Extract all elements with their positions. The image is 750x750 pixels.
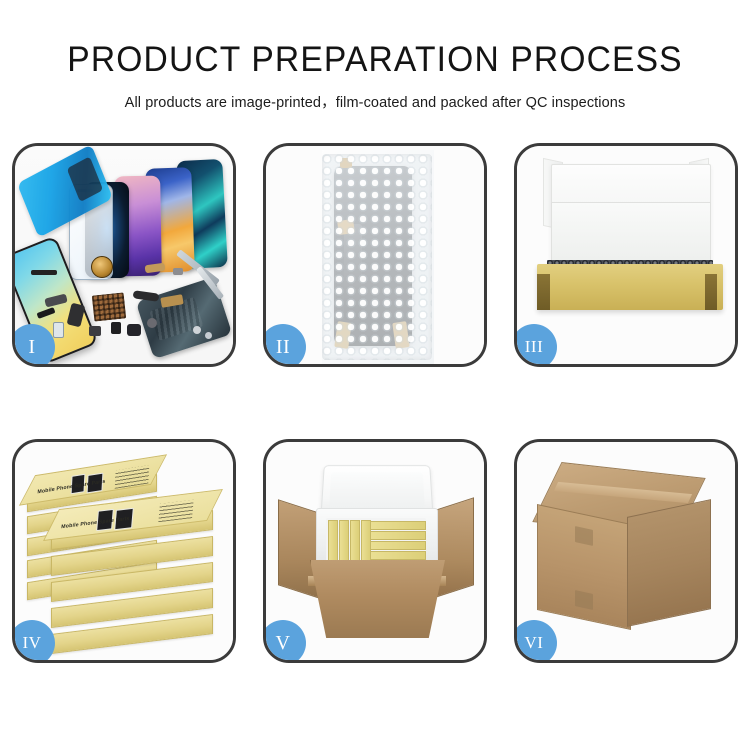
yellow-kraft-box-body-icon (537, 264, 723, 310)
page-header: PRODUCT PREPARATION PROCESS All products… (0, 0, 750, 112)
spare-part-icon (127, 324, 141, 336)
styrofoam-cavity (326, 518, 426, 562)
yellow-box-inside-icon (328, 520, 338, 562)
logic-board-chip-icon (92, 292, 127, 321)
step-panel-1[interactable]: I (12, 143, 236, 367)
step-panel-4[interactable]: Mobile Phone Spare Parts Mobile Phone Sp… (12, 439, 236, 663)
carton-right-face-icon (627, 499, 711, 627)
yellow-box-stack: Mobile Phone Spare Parts Mobile Phone Sp… (19, 458, 231, 648)
yellow-box-inside-icon (350, 520, 360, 562)
speaker-module-icon (91, 256, 113, 278)
spare-part-icon (173, 268, 183, 275)
screw-icon (147, 318, 157, 328)
step-badge-2: II (263, 324, 306, 367)
flex-cable-icon (133, 290, 160, 302)
step-badge-5: V (263, 620, 306, 663)
yellow-box-inside-icon (370, 521, 426, 530)
step-badge-3: III (514, 324, 557, 367)
process-row-bottom: Mobile Phone Spare Parts Mobile Phone Sp… (0, 439, 750, 663)
step-badge-6: VI (514, 620, 557, 663)
bubble-wrap-texture-icon (322, 154, 432, 360)
spare-part-icon (89, 326, 101, 336)
spare-part-icon (111, 322, 121, 334)
carton-body-icon (310, 560, 445, 638)
spare-part-icon (31, 270, 57, 275)
box-side-panel-icon (705, 274, 717, 310)
step-panel-6[interactable]: VI (514, 439, 738, 663)
page-subtitle: All products are image-printed，film-coat… (0, 91, 750, 112)
spare-part-icon (53, 322, 64, 338)
carton-left-face-icon (537, 504, 631, 630)
process-row-top: I II (0, 143, 750, 367)
process-step-grid: I II (0, 143, 750, 663)
box-side-panel-icon (537, 274, 550, 310)
yellow-box-inside-icon (339, 520, 349, 562)
screw-icon (205, 332, 212, 339)
page-title: PRODUCT PREPARATION PROCESS (15, 42, 735, 77)
yellow-box-inside-icon (370, 531, 426, 540)
step-panel-5[interactable]: V (263, 439, 487, 663)
yellow-box-inside-icon (370, 551, 426, 560)
step-badge-4: IV (12, 620, 55, 663)
step-panel-2[interactable]: II (263, 143, 487, 367)
step-badge-1: I (12, 324, 55, 367)
yellow-box-inside-icon (370, 541, 426, 550)
screw-icon (193, 326, 201, 334)
step-panel-3[interactable]: III (514, 143, 738, 367)
